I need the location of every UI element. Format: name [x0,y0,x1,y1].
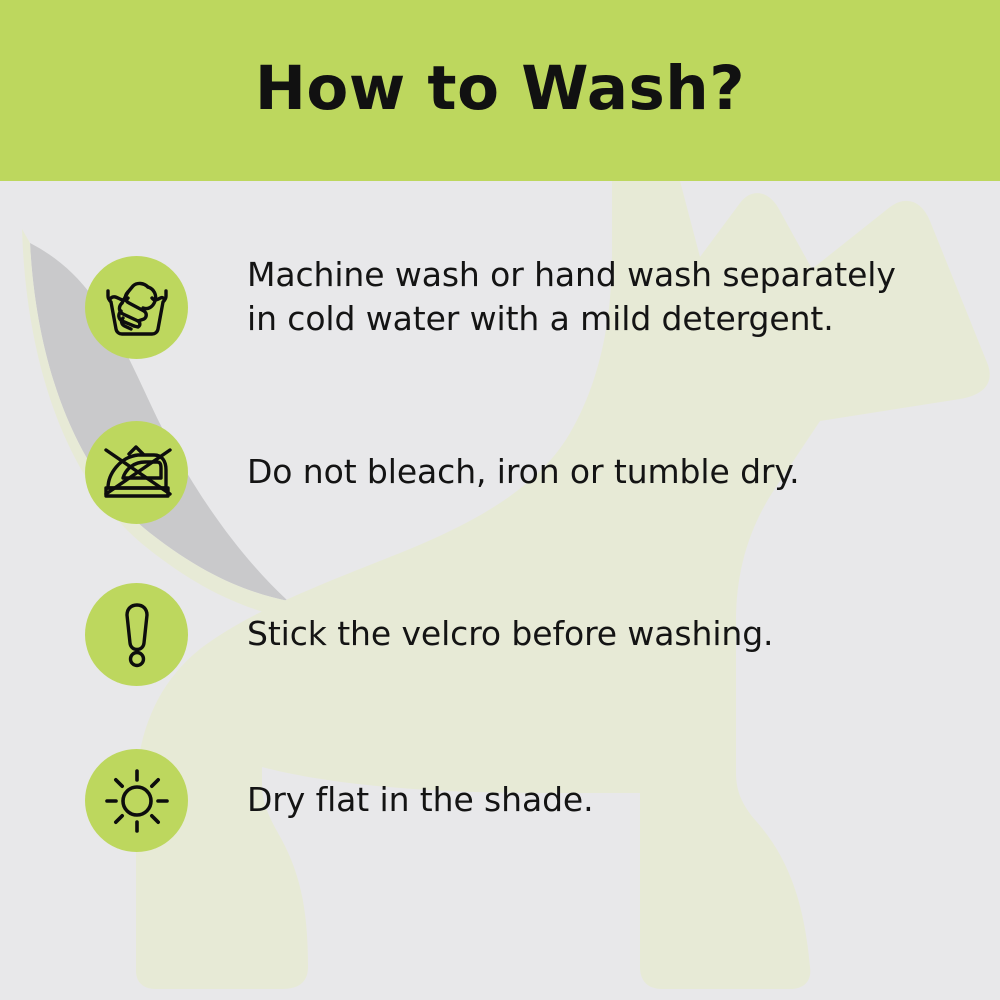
do-not-iron-icon-badge [85,421,188,524]
instruction-text: Stick the velcro before washing. [247,612,907,656]
hand-wash-icon-badge [85,256,188,359]
instruction-text: Dry flat in the shade. [247,778,907,822]
care-instructions-poster: How to Wash? [0,0,1000,1000]
sun-icon-badge [85,749,188,852]
exclamation-icon-badge [85,583,188,686]
hand-wash-icon [104,277,170,339]
instruction-text: Machine wash or hand wash separately in … [247,253,907,341]
do-not-iron-icon [102,444,172,502]
instruction-text: Do not bleach, iron or tumble dry. [247,450,907,494]
instructions-list: Machine wash or hand wash separately in … [0,181,1000,1000]
sun-icon [104,768,170,834]
page-title: How to Wash? [255,58,745,123]
header-band: How to Wash? [0,0,1000,181]
exclamation-icon [120,602,154,668]
